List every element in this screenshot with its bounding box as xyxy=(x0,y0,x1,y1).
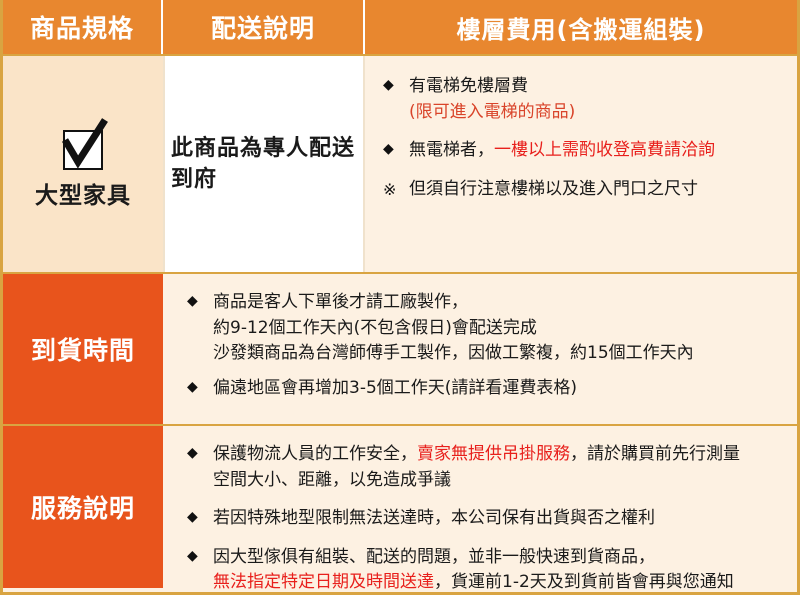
bullet-text: 因大型傢俱有組裝、配送的問題，並非一般快速到貨商品， 無法指定特定日期及時間送達… xyxy=(213,545,783,595)
table-header-row: 商品規格 配送說明 樓層費用(含搬運組裝) xyxy=(3,0,797,54)
diamond-bullet-icon: ◆ xyxy=(383,138,409,160)
diamond-bullet-icon: ◆ xyxy=(187,442,213,464)
delivery-description-text: 此商品為專人配送到府 xyxy=(165,133,363,195)
table-row-large-furniture: 大型家具 此商品為專人配送到府 ◆ 有電梯免樓層費 (限可進入電梯的商品) ◆ … xyxy=(3,54,797,272)
bullet-text-line2: 空間大小、距離，以免造成爭議 xyxy=(213,470,451,490)
bullet-text-emphasis: 無法指定特定日期及時間送達 xyxy=(213,572,434,592)
header-label-floor-fee: 樓層費用(含搬運組裝) xyxy=(457,10,706,45)
row-tag-arrival-time: 到貨時間 xyxy=(3,274,163,424)
bullet-text-prefix: 無電梯者， xyxy=(409,140,494,160)
list-item: ◆ 因大型傢俱有組裝、配送的問題，並非一般快速到貨商品， 無法指定特定日期及時間… xyxy=(187,545,783,595)
bullet-text: 偏遠地區會再增加3-5個工作天(請詳看運費表格) xyxy=(213,376,783,402)
bullet-text: 若因特殊地型限制無法送達時，本公司保有出貨與否之權利 xyxy=(213,506,783,532)
list-item: ◆ 無電梯者，一樓以上需酌收登高費請洽詢 xyxy=(383,138,783,164)
bullet-text-prefix: 因大型傢俱有組裝、配送的問題，並非一般快速到貨商品， xyxy=(213,547,655,567)
header-cell-delivery-info: 配送說明 xyxy=(163,0,365,54)
header-label-product-spec: 商品規格 xyxy=(30,9,134,45)
list-item: ◆ 商品是客人下單後才請工廠製作， 約9-12個工作天內(不包含假日)會配送完成… xyxy=(187,290,783,367)
cell-delivery-description: 此商品為專人配送到府 xyxy=(163,56,365,272)
checkmark-stroke-icon xyxy=(55,118,111,170)
bullet-text: 無電梯者，一樓以上需酌收登高費請洽詢 xyxy=(409,138,783,164)
bullet-text-line3: 沙發類商品為台灣師傅手工製作，因做工繁複，約15個工作天內 xyxy=(213,341,783,367)
bullet-text-line2: 約9-12個工作天內(不包含假日)會配送完成 xyxy=(213,316,783,342)
diamond-bullet-icon: ◆ xyxy=(187,290,213,312)
diamond-bullet-icon: ◆ xyxy=(187,545,213,567)
bullet-text-emphasis: 一樓以上需酌收登高費請洽詢 xyxy=(494,140,715,160)
spec-label-large-furniture: 大型家具 xyxy=(35,176,131,210)
diamond-bullet-icon: ◆ xyxy=(187,506,213,528)
table-row-arrival-time: 到貨時間 ◆ 商品是客人下單後才請工廠製作， 約9-12個工作天內(不包含假日)… xyxy=(3,272,797,424)
bullet-text-note: (限可進入電梯的商品) xyxy=(409,102,575,122)
bullet-text-line1: 商品是客人下單後才請工廠製作， xyxy=(213,290,783,316)
checkbox-checked-icon xyxy=(55,118,111,170)
row-tag-label: 到貨時間 xyxy=(31,331,135,367)
diamond-bullet-icon: ◆ xyxy=(383,74,409,96)
header-cell-product-spec: 商品規格 xyxy=(3,0,163,54)
list-item: ※ 但須自行注意樓梯以及進入門口之尺寸 xyxy=(383,177,783,203)
bullet-text-prefix: 保護物流人員的工作安全， xyxy=(213,444,417,464)
cell-floor-fee-details: ◆ 有電梯免樓層費 (限可進入電梯的商品) ◆ 無電梯者，一樓以上需酌收登高費請… xyxy=(365,56,797,272)
bullet-text-emphasis: 賣家無提供吊掛服務 xyxy=(417,444,570,464)
row-tag-label: 服務說明 xyxy=(31,489,135,525)
service-notes-bullet-list: ◆ 保護物流人員的工作安全，賣家無提供吊掛服務，請於購買前先行測量 空間大小、距… xyxy=(187,442,783,595)
table-row-service-notes: 服務說明 ◆ 保護物流人員的工作安全，賣家無提供吊掛服務，請於購買前先行測量 空… xyxy=(3,424,797,588)
bullet-text-main: 有電梯免樓層費 xyxy=(409,76,528,96)
diamond-bullet-icon: ◆ xyxy=(187,376,213,398)
header-label-delivery-info: 配送說明 xyxy=(211,9,315,45)
bullet-text: 有電梯免樓層費 (限可進入電梯的商品) xyxy=(409,74,783,125)
cell-arrival-time-details: ◆ 商品是客人下單後才請工廠製作， 約9-12個工作天內(不包含假日)會配送完成… xyxy=(163,274,797,424)
reference-mark-icon: ※ xyxy=(383,177,409,203)
bullet-text: 商品是客人下單後才請工廠製作， 約9-12個工作天內(不包含假日)會配送完成 沙… xyxy=(213,290,783,367)
list-item: ◆ 偏遠地區會再增加3-5個工作天(請詳看運費表格) xyxy=(187,376,783,402)
header-cell-floor-fee: 樓層費用(含搬運組裝) xyxy=(365,0,797,54)
row-tag-service-notes: 服務說明 xyxy=(3,426,163,588)
cell-service-notes-details: ◆ 保護物流人員的工作安全，賣家無提供吊掛服務，請於購買前先行測量 空間大小、距… xyxy=(163,426,797,588)
bullet-text-suffix: ，貨運前1-2天及到貨前皆會再與您通知 xyxy=(434,572,734,592)
delivery-info-table: 商品規格 配送說明 樓層費用(含搬運組裝) 大型家具 此商品為專人配送到府 xyxy=(0,0,800,595)
floor-fee-bullet-list: ◆ 有電梯免樓層費 (限可進入電梯的商品) ◆ 無電梯者，一樓以上需酌收登高費請… xyxy=(383,74,783,202)
list-item: ◆ 保護物流人員的工作安全，賣家無提供吊掛服務，請於購買前先行測量 空間大小、距… xyxy=(187,442,783,493)
list-item: ◆ 有電梯免樓層費 (限可進入電梯的商品) xyxy=(383,74,783,125)
list-item: ◆ 若因特殊地型限制無法送達時，本公司保有出貨與否之權利 xyxy=(187,506,783,532)
bullet-text-suffix: ，請於購買前先行測量 xyxy=(570,444,740,464)
arrival-time-bullet-list: ◆ 商品是客人下單後才請工廠製作， 約9-12個工作天內(不包含假日)會配送完成… xyxy=(187,290,783,401)
cell-product-spec: 大型家具 xyxy=(3,56,163,272)
bullet-text: 但須自行注意樓梯以及進入門口之尺寸 xyxy=(409,177,783,203)
bullet-text: 保護物流人員的工作安全，賣家無提供吊掛服務，請於購買前先行測量 空間大小、距離，… xyxy=(213,442,783,493)
